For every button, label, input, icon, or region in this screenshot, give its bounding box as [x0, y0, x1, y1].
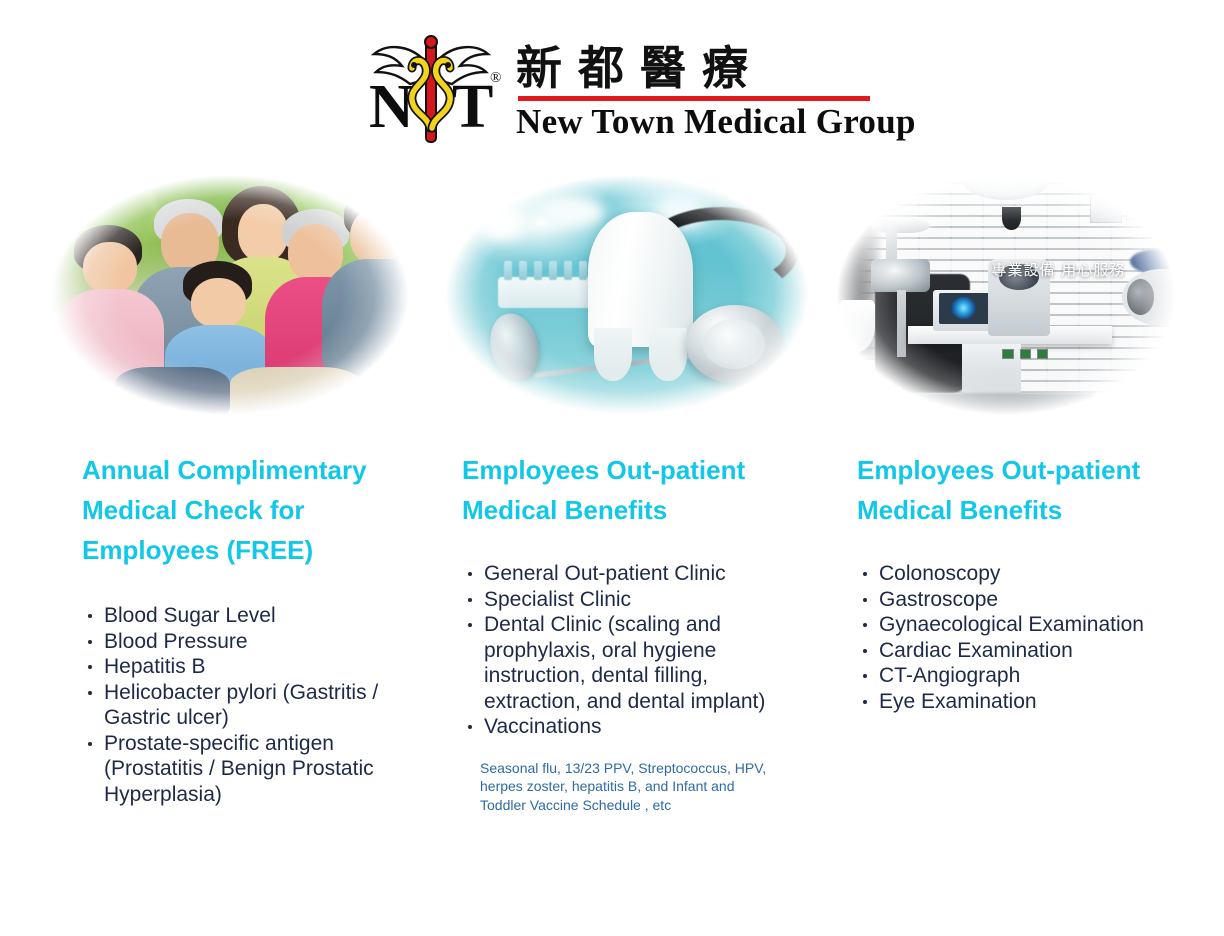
slide-root: { "logo": { "letters": { "n": "N", "t": …	[0, 0, 1224, 936]
column-2-heading: Employees Out-patient Medical Benefits	[462, 450, 782, 530]
phoropter-icon	[871, 259, 929, 293]
list-item: Dental Clinic (scaling and prophylaxis, …	[462, 612, 782, 714]
list-item: Helicobacter pylori (Gastritis / Gastric…	[82, 680, 412, 731]
list-item: Colonoscopy	[857, 561, 1187, 587]
list-item: Prostate-specific antigen (Prostatitis /…	[82, 731, 412, 808]
list-item: Blood Sugar Level	[82, 603, 412, 629]
column-3-heading: Employees Out-patient Medical Benefits	[857, 450, 1187, 530]
column-annual-medical-check: Annual Complimentary Medical Check for E…	[82, 450, 412, 807]
column-2-bullet-list: General Out-patient Clinic Specialist Cl…	[462, 561, 782, 740]
eye-clinic-photo: 專業設備 用心服務	[824, 166, 1188, 424]
list-item: Gynaecological Examination	[857, 612, 1187, 638]
logo-chinese-name: 新都醫療	[516, 32, 876, 98]
security-camera-icon	[1002, 207, 1020, 230]
vaccination-note: Seasonal flu, 13/23 PPV, Streptococcus, …	[480, 759, 780, 815]
logo-letter-n: N	[369, 72, 414, 143]
family-photo	[38, 166, 422, 424]
list-item: Gastroscope	[857, 587, 1187, 613]
logo-letter-t: T	[452, 72, 493, 143]
list-item: Vaccinations	[462, 714, 782, 740]
photo-overlay-caption: 專業設備 用心服務	[991, 259, 1125, 280]
logo-english-name: New Town Medical Group	[516, 102, 888, 142]
registered-trademark-icon: ®	[490, 70, 501, 87]
column-1-bullet-list: Blood Sugar Level Blood Pressure Hepatit…	[82, 603, 412, 807]
list-item: General Out-patient Clinic	[462, 561, 782, 587]
column-1-heading: Annual Complimentary Medical Check for E…	[82, 450, 412, 570]
list-item: Blood Pressure	[82, 629, 412, 655]
column-3-bullet-list: Colonoscopy Gastroscope Gynaecological E…	[857, 561, 1187, 714]
logo-monogram: N T	[366, 72, 496, 142]
dental-photo	[432, 166, 822, 424]
column-outpatient-benefits-b: Employees Out-patient Medical Benefits C…	[857, 450, 1187, 714]
list-item: Eye Examination	[857, 689, 1187, 715]
brand-logo: N T ® 新都醫療 New Town Medical Group	[366, 34, 876, 146]
logo-divider	[518, 96, 870, 101]
list-item: CT-Angiograph	[857, 663, 1187, 689]
list-item: Hepatitis B	[82, 654, 412, 680]
list-item: Specialist Clinic	[462, 587, 782, 613]
list-item: Cardiac Examination	[857, 638, 1187, 664]
column-outpatient-benefits-a: Employees Out-patient Medical Benefits G…	[462, 450, 782, 814]
